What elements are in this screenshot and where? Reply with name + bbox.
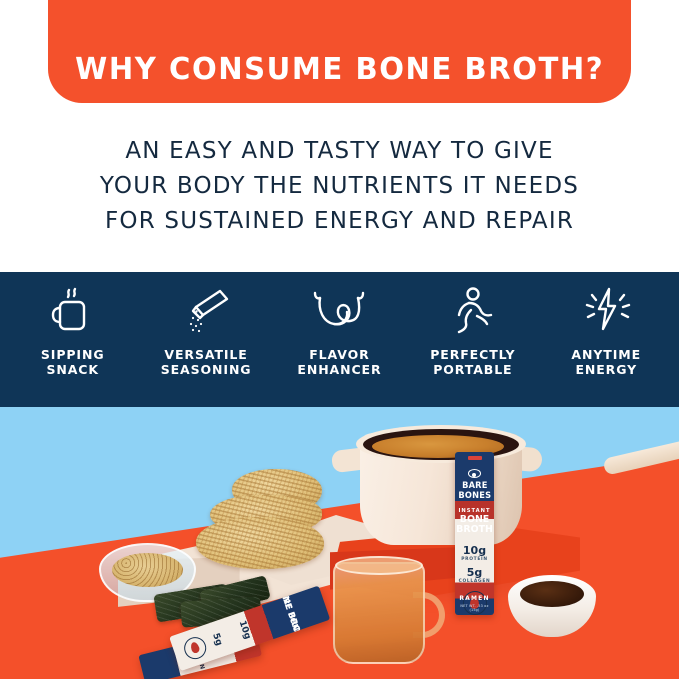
seasoning-packet-icon <box>180 284 232 338</box>
page-title: WHY CONSUME BONE BROTH? <box>75 55 604 85</box>
ramen-noodle-blocks <box>196 469 330 573</box>
hero-banner: WHY CONSUME BONE BROTH? <box>48 0 631 103</box>
subtitle-line-2: YOUR BODY THE NUTRIENTS IT NEEDS <box>0 169 679 204</box>
benefit-perfectly-portable: PERFECTLY PORTABLE <box>409 284 537 377</box>
soy-sauce-liquid <box>520 581 584 607</box>
lightning-bolt-icon <box>579 284 633 338</box>
benefit-label: VERSATILE SEASONING <box>161 347 252 377</box>
protein-value: 10g <box>463 545 486 557</box>
product-name: BONEBROTH <box>456 515 493 535</box>
running-person-icon <box>447 284 499 338</box>
benefit-anytime-energy: ANYTIME ENERGY <box>542 284 670 377</box>
steaming-mug-icon <box>50 284 96 338</box>
cream-pot-with-broth <box>348 423 534 551</box>
benefit-label: PERFECTLY PORTABLE <box>430 347 515 377</box>
flavor-label: RAMEN <box>455 595 494 602</box>
brand-line-2: BONES <box>458 491 491 501</box>
collagen-value: 5g <box>467 567 483 579</box>
brand-name: BAREBONES <box>458 482 491 501</box>
noodle-swirl-icon <box>308 284 370 338</box>
benefit-versatile-seasoning: VERSATILE SEASONING <box>142 284 270 377</box>
protein-label: PROTEIN <box>461 557 488 562</box>
mug-body <box>333 562 425 664</box>
benefit-sipping-snack: SIPPING SNACK <box>9 284 137 377</box>
zero-sugar-badge-icon <box>181 634 209 662</box>
subtitle-line-1: AN EASY AND TASTY WAY TO GIVE <box>0 134 679 169</box>
subtitle-block: AN EASY AND TASTY WAY TO GIVE YOUR BODY … <box>0 134 679 239</box>
brand-seal-icon <box>468 469 481 478</box>
soy-sauce-bowl <box>508 575 596 637</box>
mug-broth-surface <box>335 556 423 575</box>
bone-broth-infographic: WHY CONSUME BONE BROTH? AN EASY AND TAST… <box>0 0 679 679</box>
benefit-label: ANYTIME ENERGY <box>571 347 641 377</box>
net-weight-label: NET WT. .53 oz (15g) <box>455 604 494 612</box>
collagen-value: 5g <box>210 632 224 647</box>
product-line-2: BROTH <box>456 524 493 535</box>
product-stick-packet: BAREBONES INSTANT BONEBROTH 10g PROTEIN … <box>455 452 494 615</box>
protein-value: 10g <box>237 619 253 640</box>
glass-mug-of-broth <box>333 562 445 669</box>
stick-top-tab <box>468 456 482 460</box>
benefits-band: SIPPING SNACK VERSATILE SEASONING <box>0 272 679 407</box>
benefit-flavor-enhancer: FLAVOR ENHANCER <box>275 284 403 377</box>
product-lifestyle-photo <box>0 407 679 679</box>
brand-line-1: BARE <box>462 481 488 491</box>
benefit-label: SIPPING SNACK <box>41 347 105 377</box>
benefit-label: FLAVOR ENHANCER <box>297 347 381 377</box>
noodle-block <box>196 517 324 569</box>
subtitle-line-3: FOR SUSTAINED ENERGY AND REPAIR <box>0 204 679 239</box>
collagen-label: COLLAGEN <box>459 579 491 584</box>
